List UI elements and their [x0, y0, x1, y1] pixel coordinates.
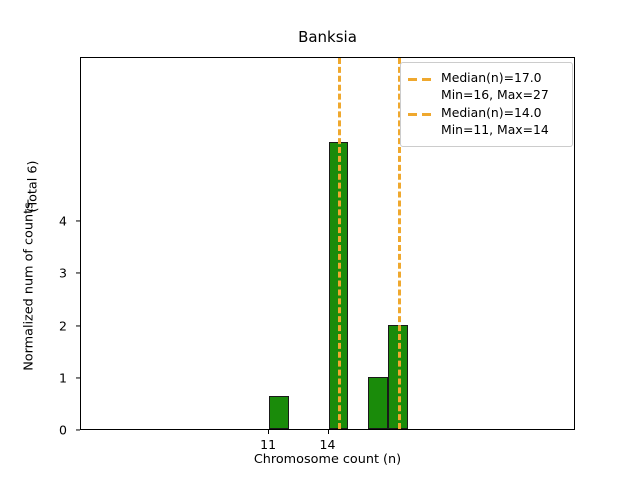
x-tick-mark-14 [328, 430, 329, 434]
page-title: Banksia [80, 28, 575, 46]
chart-figure: Banksia Normalized num of counts (Total … [0, 0, 640, 480]
bar-11 [269, 396, 289, 429]
legend-entry-0-range: Min=16, Max=27 [441, 86, 549, 103]
x-tick-label-11: 11 [260, 437, 276, 452]
legend-entry-1-range: Min=11, Max=14 [441, 121, 549, 138]
x-axis: 11 14 [80, 430, 575, 452]
legend-entry-1: Median(n)=14.0 Min=11, Max=14 [408, 104, 565, 138]
legend-entry-0-median: Median(n)=17.0 [441, 69, 549, 86]
x-tick-label-14: 14 [320, 437, 336, 452]
plot-area: Median(n)=17.0 Min=16, Max=27 Median(n)=… [80, 57, 575, 430]
legend: Median(n)=17.0 Min=16, Max=27 Median(n)=… [400, 62, 573, 147]
legend-entry-1-median: Median(n)=14.0 [441, 104, 549, 121]
y-tick-label-2: 2 [59, 318, 67, 333]
x-axis-label: Chromosome count (n) [80, 452, 575, 467]
y-axis: Normalized num of counts (Total 6) 0 1 2… [0, 57, 80, 430]
y-tick-label-0: 0 [59, 423, 67, 438]
dashed-line-icon [408, 72, 434, 86]
dashed-line-icon [408, 107, 434, 121]
legend-entry-0: Median(n)=17.0 Min=16, Max=27 [408, 69, 565, 103]
bar-16 [368, 377, 388, 429]
x-tick-mark-11 [268, 430, 269, 434]
y-axis-total-label: (Total 6) [26, 132, 41, 242]
y-tick-label-3: 3 [59, 266, 67, 281]
y-tick-label-1: 1 [59, 370, 67, 385]
median-line-14 [338, 58, 341, 429]
y-tick-label-4: 4 [59, 214, 67, 229]
